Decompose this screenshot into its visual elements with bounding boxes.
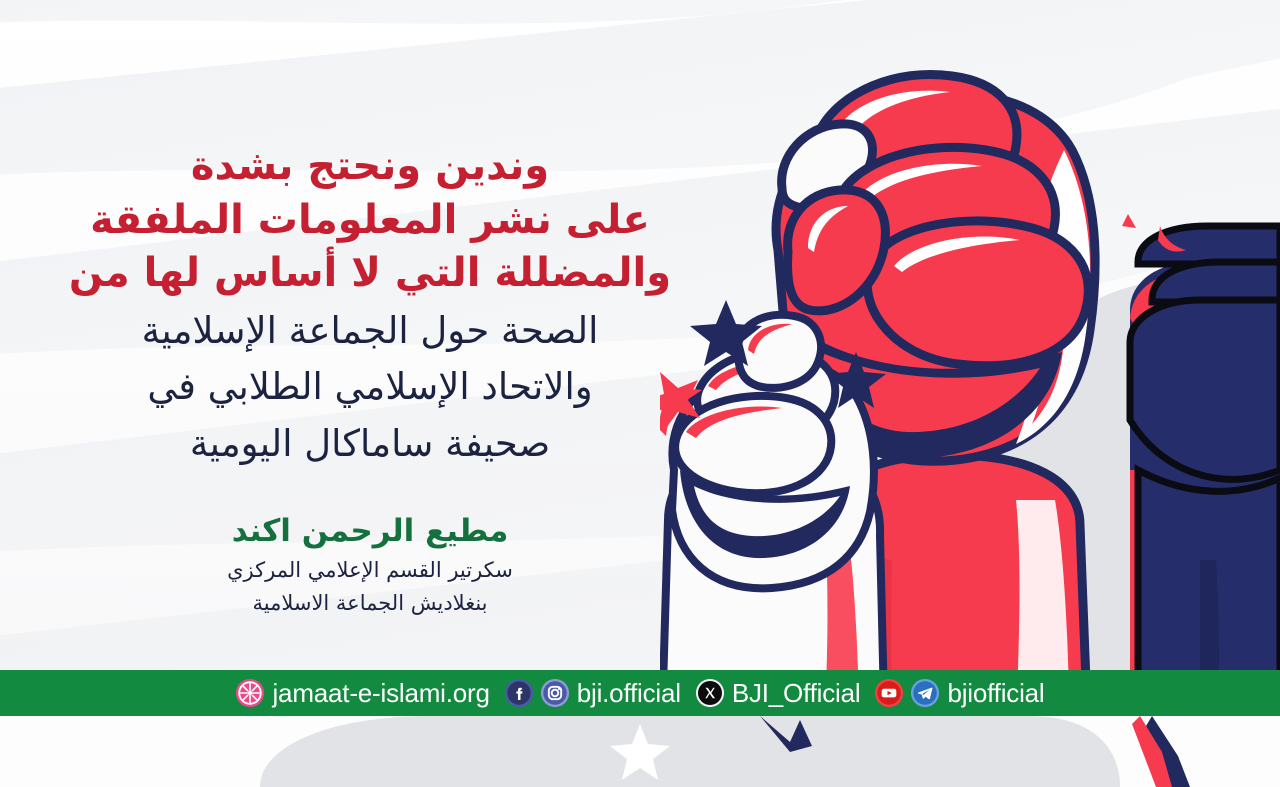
- x-twitter-icon[interactable]: [695, 678, 725, 708]
- telegram-icon[interactable]: [910, 678, 940, 708]
- instagram-icon[interactable]: [540, 678, 570, 708]
- headline: وندين ونحتج بشدة على نشر المعلومات الملف…: [40, 140, 700, 301]
- headline-line-2: على نشر المعلومات الملفقة: [40, 194, 700, 248]
- footer-label-x[interactable]: BJI_Official: [732, 678, 861, 709]
- footer-icons-website: [235, 678, 265, 708]
- website-icon[interactable]: [235, 678, 265, 708]
- poster-canvas: وندين ونحتج بشدة على نشر المعلومات الملف…: [0, 0, 1280, 787]
- social-footer-bar: jamaat-e-islami.org bji.official: [0, 670, 1280, 716]
- footer-label-meta[interactable]: bji.official: [577, 678, 681, 709]
- subhead-line-3: صحيفة ساماكال اليومية: [40, 418, 700, 471]
- facebook-icon[interactable]: [504, 678, 534, 708]
- footer-label-video[interactable]: bjiofficial: [947, 678, 1044, 709]
- headline-line-3: والمضللة التي لا أساس لها من: [40, 247, 700, 301]
- footer-icons-meta: [504, 678, 570, 708]
- attribution-role-line-2: بنغلاديش الجماعة الاسلامية: [40, 590, 700, 617]
- footer-group-website[interactable]: jamaat-e-islami.org: [228, 678, 496, 709]
- subhead-line-2: والاتحاد الإسلامي الطلابي في: [40, 361, 700, 414]
- youtube-icon[interactable]: [874, 678, 904, 708]
- raised-fists-illustration: [660, 0, 1280, 787]
- footer-label-website[interactable]: jamaat-e-islami.org: [272, 678, 489, 709]
- footer-group-x[interactable]: BJI_Official: [688, 678, 868, 709]
- star-accent-navy: [1122, 214, 1136, 228]
- bottom-decorative-shape: [0, 716, 1280, 787]
- subhead-line-1: الصحة حول الجماعة الإسلامية: [40, 305, 700, 358]
- navy-fist: [1122, 214, 1280, 740]
- footer-group-meta[interactable]: bji.official: [497, 678, 688, 709]
- attribution-block: مطيع الرحمن اكند سكرتير القسم الإعلامي ا…: [40, 512, 700, 617]
- footer-icons-x: [695, 678, 725, 708]
- footer-group-video[interactable]: bjiofficial: [867, 678, 1051, 709]
- headline-line-1: وندين ونحتج بشدة: [40, 140, 700, 194]
- subheadline: الصحة حول الجماعة الإسلامية والاتحاد الإ…: [40, 305, 700, 471]
- statement-text-block: وندين ونحتج بشدة على نشر المعلومات الملف…: [0, 0, 740, 618]
- attribution-name: مطيع الرحمن اكند: [40, 512, 700, 551]
- footer-icons-video: [874, 678, 940, 708]
- attribution-role-line-1: سكرتير القسم الإعلامي المركزي: [40, 557, 700, 584]
